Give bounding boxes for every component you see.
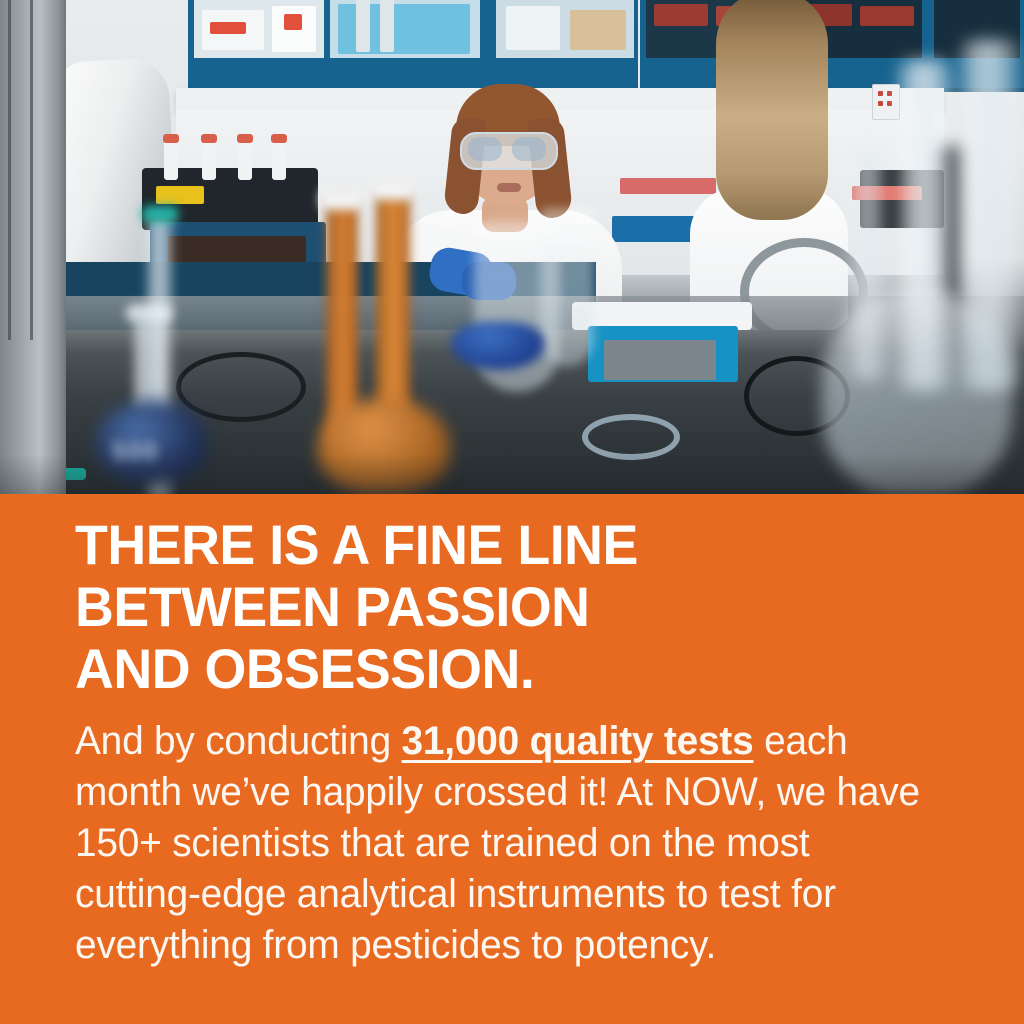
balance-display — [604, 340, 716, 380]
scientist-mouth — [497, 183, 521, 192]
photo-bottom-shadow — [0, 454, 1024, 494]
wall-socket-plate — [872, 84, 900, 120]
foreground-flask-center-right — [540, 208, 594, 366]
body-lead: And by conducting — [75, 719, 402, 763]
vial — [164, 140, 178, 180]
door-frame-pillar — [0, 0, 66, 494]
bench-cable — [176, 352, 306, 422]
second-scientist-hair — [716, 0, 828, 220]
upper-cabinet-left — [188, 0, 498, 92]
amber-flask-stopper-2 — [370, 178, 416, 200]
amber-flask-stopper-1 — [320, 188, 364, 210]
volumetric-flask-lip — [126, 304, 172, 322]
cabinet-valance — [176, 88, 944, 112]
beaker-blue-liquid — [452, 322, 544, 370]
orange-text-panel: THERE IS A FINE LINE BETWEEN PASSION AND… — [0, 494, 1024, 1024]
vial — [238, 140, 252, 180]
page-title: THERE IS A FINE LINE BETWEEN PASSION AND… — [75, 514, 920, 700]
vial-cap — [237, 134, 253, 143]
goggles-lens-right — [512, 137, 546, 161]
lab-photo: 500 — [0, 0, 1024, 494]
red-equipment-panel — [620, 178, 716, 194]
vial — [272, 140, 286, 180]
body-copy: And by conducting 31,000 quality tests e… — [75, 716, 933, 971]
pipette-cap-mid — [142, 206, 178, 222]
vial-cap — [201, 134, 217, 143]
stat-highlight: 31,000 quality tests — [402, 719, 754, 763]
vial-cap — [271, 134, 287, 143]
upper-cabinet-middle — [492, 0, 638, 92]
goggles-lens-left — [468, 137, 502, 161]
vial — [202, 140, 216, 180]
instrument-label — [156, 186, 204, 204]
social-graphic: 500 THERE IS A FINE LINE BETWEEN PASSION… — [0, 0, 1024, 1024]
vial-cap — [163, 134, 179, 143]
